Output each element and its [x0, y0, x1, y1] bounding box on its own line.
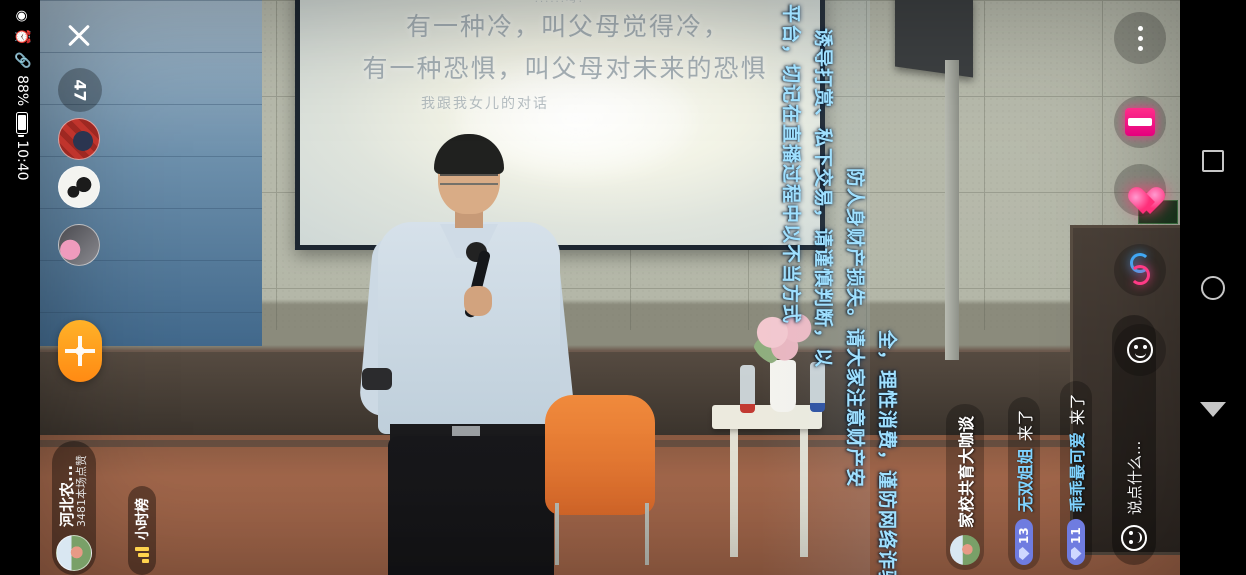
- share-link-icon[interactable]: [1114, 244, 1166, 296]
- phone-screen: ......吗? 有一种冷，叫父母觉得冷， 有一种恐惧，叫父母对未来的恐惧 我跟…: [0, 0, 1246, 575]
- red-packet-icon[interactable]: [1114, 96, 1166, 148]
- gift-sparkle-icon[interactable]: [58, 320, 102, 382]
- hourly-rank-chip[interactable]: 小时榜: [128, 486, 156, 575]
- rank-label: 小时榜: [132, 498, 152, 540]
- chat-message-2[interactable]: 11 乖乖最可爱 来了: [1060, 381, 1092, 570]
- share-glyph: [1126, 253, 1154, 287]
- comment-placeholder: 说点什么...: [1124, 441, 1145, 515]
- viewer-count-badge[interactable]: 47: [58, 68, 102, 112]
- chat-system-text: 家校共育大咖谈: [953, 416, 977, 528]
- chat-level-1: 13: [1017, 527, 1031, 544]
- gem-glyph: [1071, 547, 1082, 560]
- chat-avatar: [950, 535, 980, 565]
- gem-level-icon: 13: [1015, 519, 1033, 565]
- host-stats: 3481本场点赞: [76, 455, 89, 527]
- emoji-face-icon[interactable]: [1114, 324, 1166, 376]
- status-bar: ◉ ⏰ 🔗 88% 10:40 中国移动 HD 4G ◑: [0, 0, 40, 575]
- chat-message-1[interactable]: 13 无双姐姐 来了: [1008, 397, 1040, 570]
- smiley-emoji-icon[interactable]: [1121, 525, 1147, 551]
- viewer-avatar-1[interactable]: [58, 118, 100, 160]
- chat-level-2: 11: [1069, 527, 1083, 544]
- host-card[interactable]: 河北农... 3481本场点赞: [52, 441, 96, 575]
- square-recents-icon[interactable]: [1202, 150, 1224, 172]
- bluetooth-icon: 🔗: [14, 52, 30, 69]
- circle-home-icon[interactable]: [1201, 276, 1225, 300]
- host-avatar: [56, 535, 92, 571]
- chat-user-2: 乖乖最可爱: [1064, 432, 1088, 512]
- close-icon[interactable]: [62, 18, 96, 52]
- status-time: 10:40: [14, 140, 30, 180]
- battery-percent: 88%: [14, 75, 30, 106]
- status-right-group: ◉ ⏰ 🔗 88% 10:40: [14, 10, 30, 181]
- viewer-count-label: 47: [70, 79, 89, 101]
- gem-level-icon: 11: [1067, 519, 1085, 565]
- chat-message-system[interactable]: 家校共育大咖谈: [946, 404, 984, 570]
- navigation-bar: [1180, 0, 1246, 575]
- host-name: 河北农...: [59, 455, 76, 527]
- emoji-face-glyph: [1127, 337, 1153, 363]
- more-glyph: [1138, 26, 1143, 51]
- more-dots-icon[interactable]: [1114, 12, 1166, 64]
- chat-text-1: 来了: [1012, 409, 1036, 441]
- viewer-avatar-3[interactable]: [58, 224, 100, 266]
- chat-user-1: 无双姐姐: [1012, 448, 1036, 512]
- alarm-icon: ⏰: [14, 28, 30, 45]
- triangle-back-icon[interactable]: [1200, 402, 1226, 417]
- heart-glyph: [1125, 176, 1155, 204]
- red-packet-glyph: [1125, 108, 1155, 136]
- viewer-avatar-2[interactable]: [58, 166, 100, 208]
- gem-glyph: [1019, 547, 1030, 560]
- battery-icon: [16, 112, 28, 134]
- rank-bars-icon: [135, 547, 149, 563]
- sparkle-glyph: [63, 334, 97, 368]
- chat-text-2: 来了: [1064, 393, 1088, 425]
- gift-heart-icon[interactable]: [1114, 164, 1166, 216]
- eye-comfort-icon: ◉: [14, 10, 30, 22]
